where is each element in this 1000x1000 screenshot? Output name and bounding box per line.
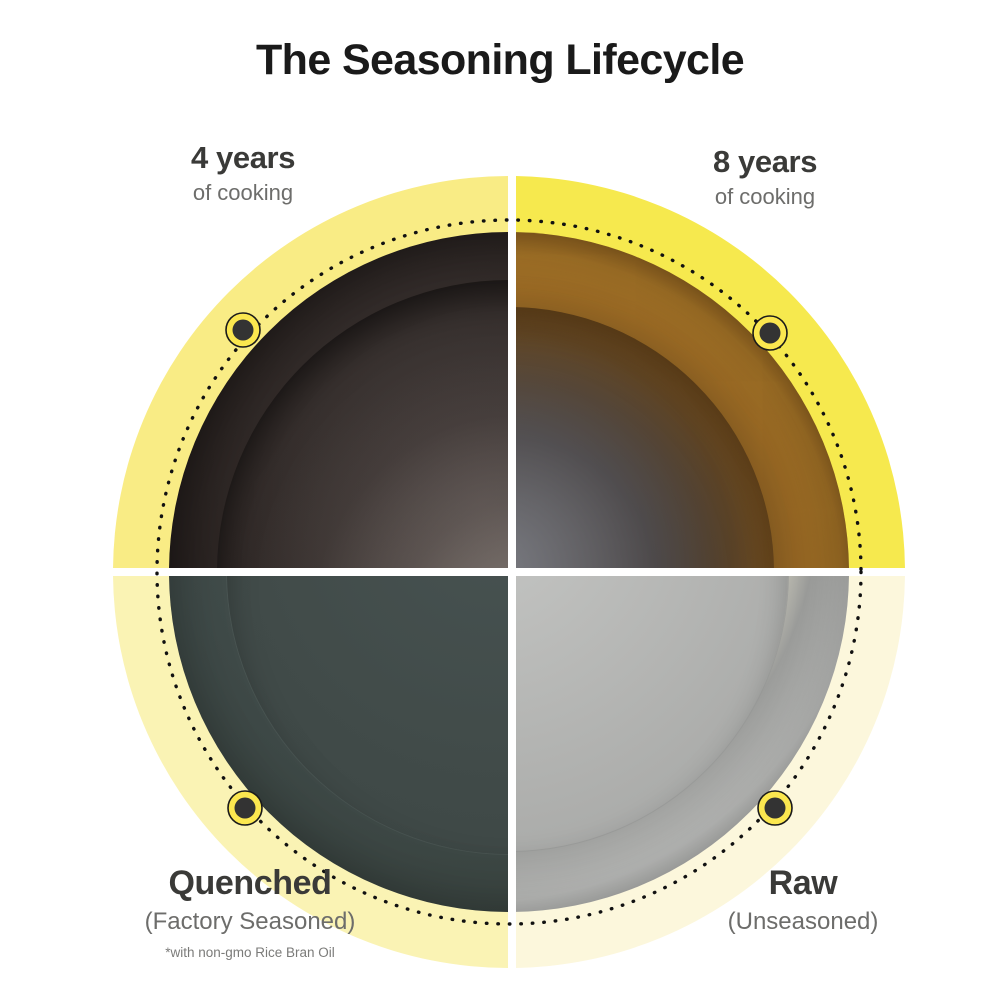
infographic-canvas: The Seasoning Lifecycle 4 years of cooki…	[0, 0, 1000, 1000]
page-title: The Seasoning Lifecycle	[0, 36, 1000, 85]
label-bottom-right: Raw (Unseasoned)	[678, 866, 928, 937]
label-bottom-right-sub: (Unseasoned)	[678, 906, 928, 937]
stage-marker-dot	[233, 320, 254, 341]
stage-marker-bottom-right[interactable]	[758, 791, 792, 825]
stage-marker-dot	[765, 798, 786, 819]
label-top-right-sub: of cooking	[640, 183, 890, 212]
label-bottom-left-sub: (Factory Seasoned)	[100, 906, 400, 937]
stage-marker-top-left[interactable]	[226, 313, 260, 347]
label-bottom-left: Quenched (Factory Seasoned) *with non-gm…	[100, 866, 400, 960]
stage-marker-dot	[760, 323, 781, 344]
label-top-right: 8 years of cooking	[640, 146, 890, 211]
label-top-right-heading: 8 years	[640, 146, 890, 179]
stage-marker-group	[226, 313, 792, 825]
label-top-left: 4 years of cooking	[118, 142, 368, 207]
label-bottom-right-heading: Raw	[678, 866, 928, 902]
stage-marker-bottom-left[interactable]	[228, 791, 262, 825]
label-top-left-sub: of cooking	[118, 179, 368, 208]
stage-marker-top-right[interactable]	[753, 316, 787, 350]
label-top-left-heading: 4 years	[118, 142, 368, 175]
label-bottom-left-note: *with non-gmo Rice Bran Oil	[100, 945, 400, 960]
stage-marker-dot	[235, 798, 256, 819]
label-bottom-left-heading: Quenched	[100, 866, 400, 902]
